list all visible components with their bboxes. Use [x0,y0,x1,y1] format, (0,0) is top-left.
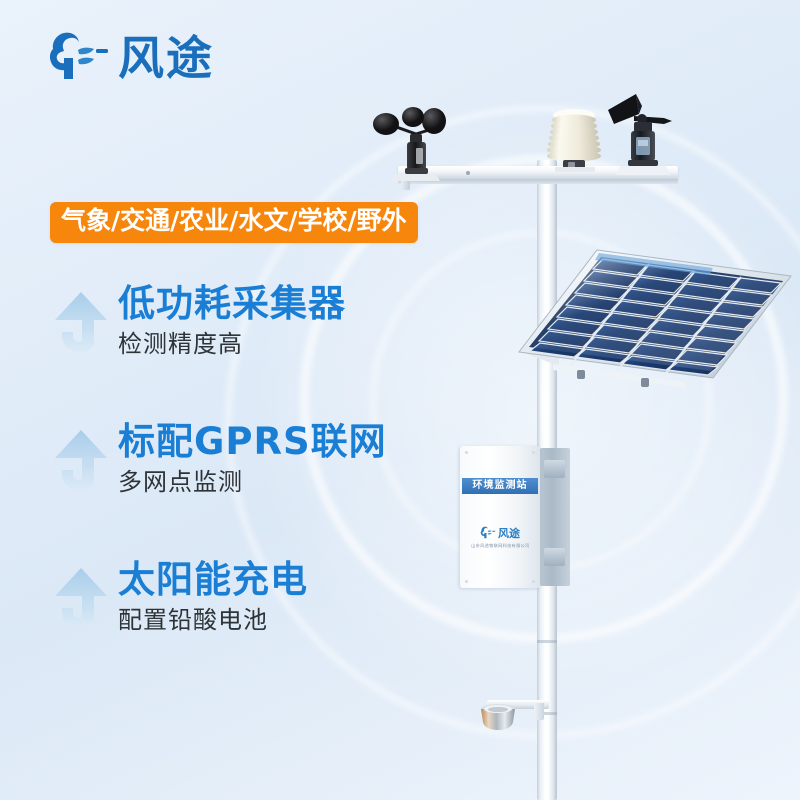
enclosure-logo-text: 风途 [498,528,520,539]
enclosure-band: 环境监测站 [462,478,538,494]
mast-seam [537,640,557,643]
enclosure-band-label: 环境监测站 [473,481,528,491]
enclosure-screw [532,580,535,583]
enclosure-clamp [544,460,565,478]
enclosure-clamp [544,548,565,566]
enclosure-screw [465,451,468,454]
product-marketing-image: 风途 气象/交通/农业/水文/学校/野外 低功耗采集器 检测精度高 [0,0,800,800]
weather-station-product: 环境监测站 风途 山东风途物联网科技有限公司 [0,0,800,800]
radiation-shield-icon [539,105,609,177]
cup-sensor-icon [478,702,518,738]
wind-vane-icon [606,86,684,182]
fengtu-cloud-logo-icon [480,524,496,543]
anemometer-cups-icon [372,104,460,186]
enclosure-screw [465,580,468,583]
enclosure-screw [532,451,535,454]
enclosure-branding: 风途 山东风途物联网科技有限公司 [460,524,540,548]
enclosure-box: 环境监测站 风途 山东风途物联网科技有限公司 [460,446,540,588]
lower-arm-bracket [534,703,544,720]
enclosure-company-line: 山东风途物联网科技有限公司 [471,545,529,549]
crossarm-bolt [466,171,470,175]
enclosure-logo-row: 风途 [480,524,520,543]
solar-panel-icon [513,246,795,398]
